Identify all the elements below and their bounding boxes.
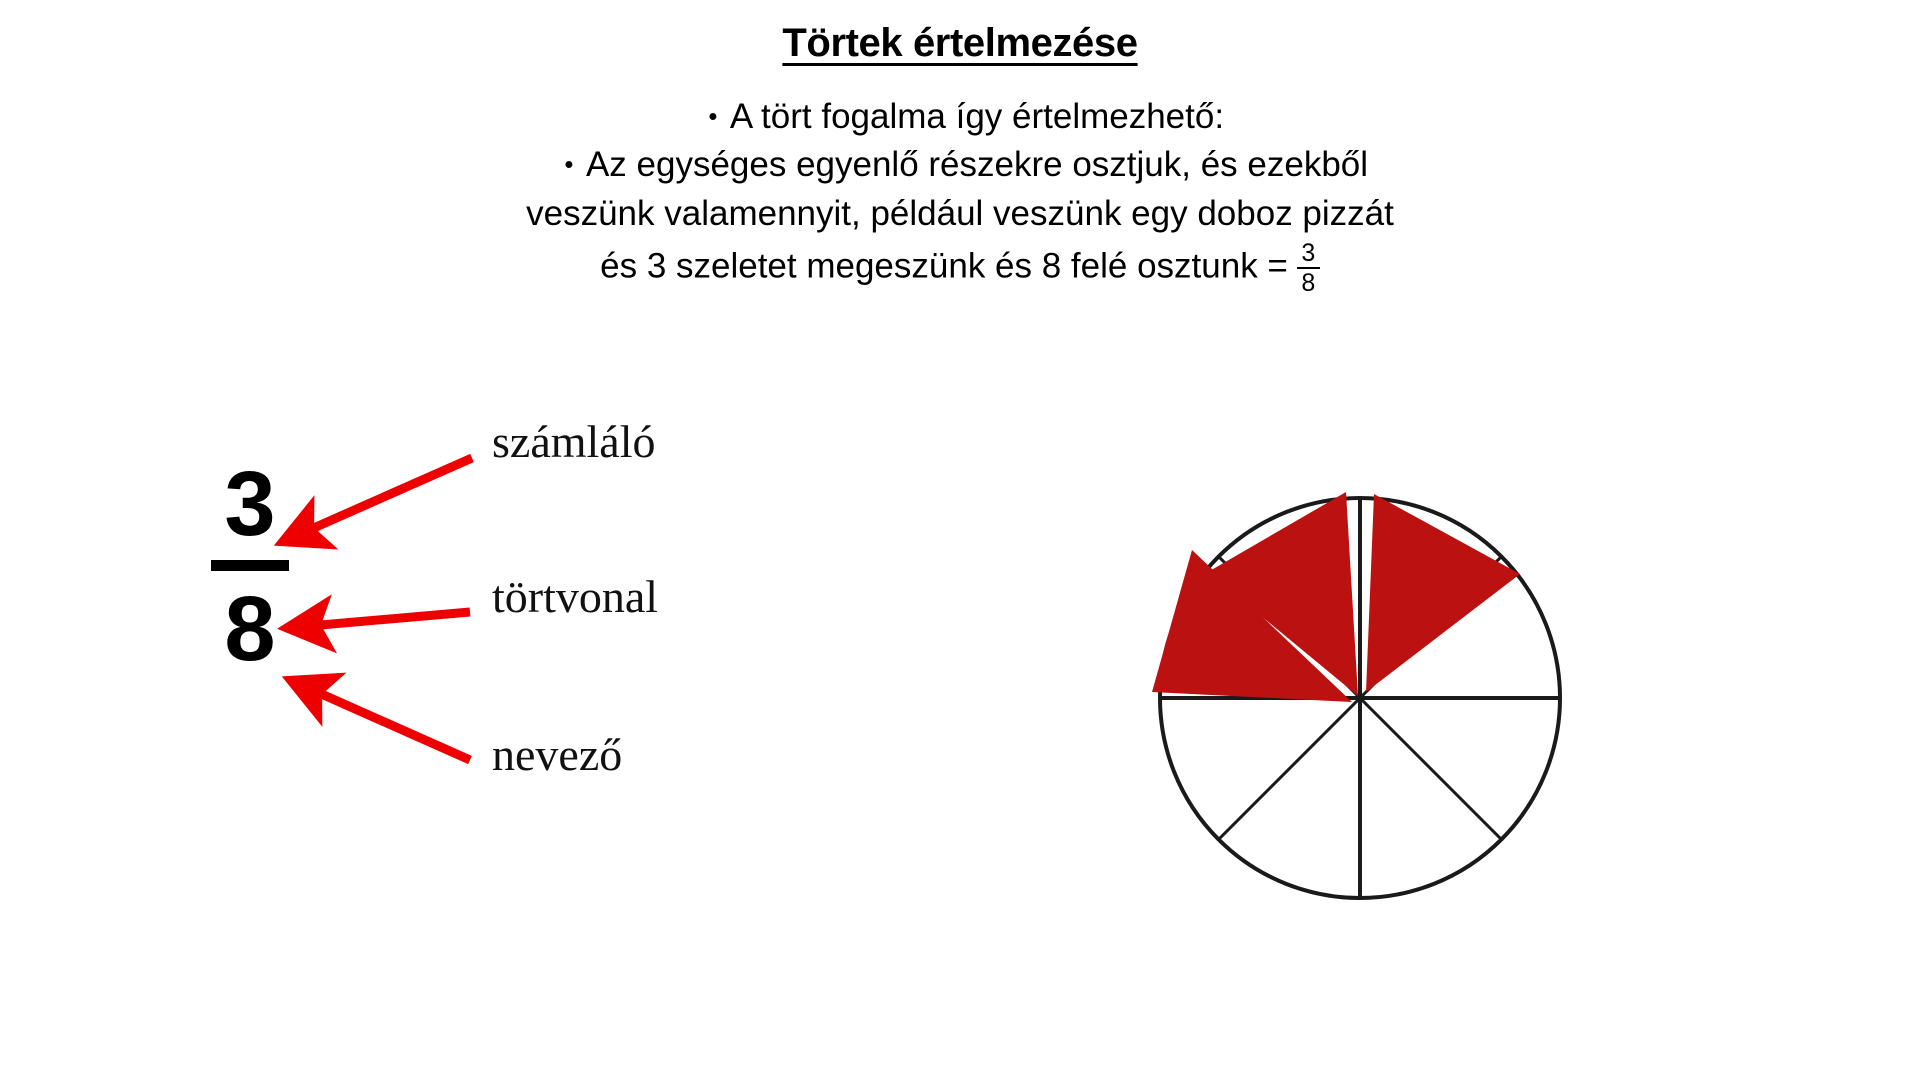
arrow-to-fraction-bar-icon xyxy=(286,612,470,628)
body-line-4-text: és 3 szeletet megeszünk és 8 felé osztun… xyxy=(600,246,1288,285)
callout-arrows-group xyxy=(170,430,960,930)
bullet-glyph-icon: • xyxy=(696,99,730,135)
body-text-container: •A tört fogalma így értelmezhető: •Az eg… xyxy=(0,93,1920,299)
label-nevezo: nevező xyxy=(492,728,622,781)
bullet-glyph-icon: • xyxy=(552,147,586,183)
bullet-line-2: •Az egységes egyenlő részekre osztjuk, é… xyxy=(0,141,1920,189)
arrow-to-denominator-icon xyxy=(290,680,470,760)
slide-canvas: Törtek értelmezése •A tört fogalma így é… xyxy=(0,0,1920,1080)
pizza-pie-diagram xyxy=(1080,420,1640,940)
title-container: Törtek értelmezése xyxy=(0,22,1920,64)
annotated-fraction-diagram: 3 8 számláló törtvonal nevező xyxy=(170,430,960,930)
body-line-3-text: veszünk valamennyit, például veszünk egy… xyxy=(526,194,1394,233)
inline-fraction-denominator: 8 xyxy=(1297,270,1320,297)
page-title: Törtek értelmezése xyxy=(782,22,1137,64)
label-tortvonal: törtvonal xyxy=(492,570,658,623)
inline-fraction-three-eighths: 3 8 xyxy=(1297,240,1320,297)
label-szamlalo: számláló xyxy=(492,415,656,468)
inline-fraction-numerator: 3 xyxy=(1297,240,1320,267)
body-line-3: veszünk valamennyit, például veszünk egy… xyxy=(0,190,1920,238)
body-line-4: és 3 szeletet megeszünk és 8 felé osztun… xyxy=(0,242,1920,299)
bullet-line-1-text: A tört fogalma így értelmezhető: xyxy=(730,97,1224,136)
arrow-to-numerator-icon xyxy=(282,458,472,542)
pie-outline-group xyxy=(1160,498,1560,898)
bullet-line-2-text: Az egységes egyenlő részekre osztjuk, és… xyxy=(586,145,1368,184)
pie-chart-svg xyxy=(1080,420,1640,940)
bullet-line-1: •A tört fogalma így értelmezhető: xyxy=(0,93,1920,141)
